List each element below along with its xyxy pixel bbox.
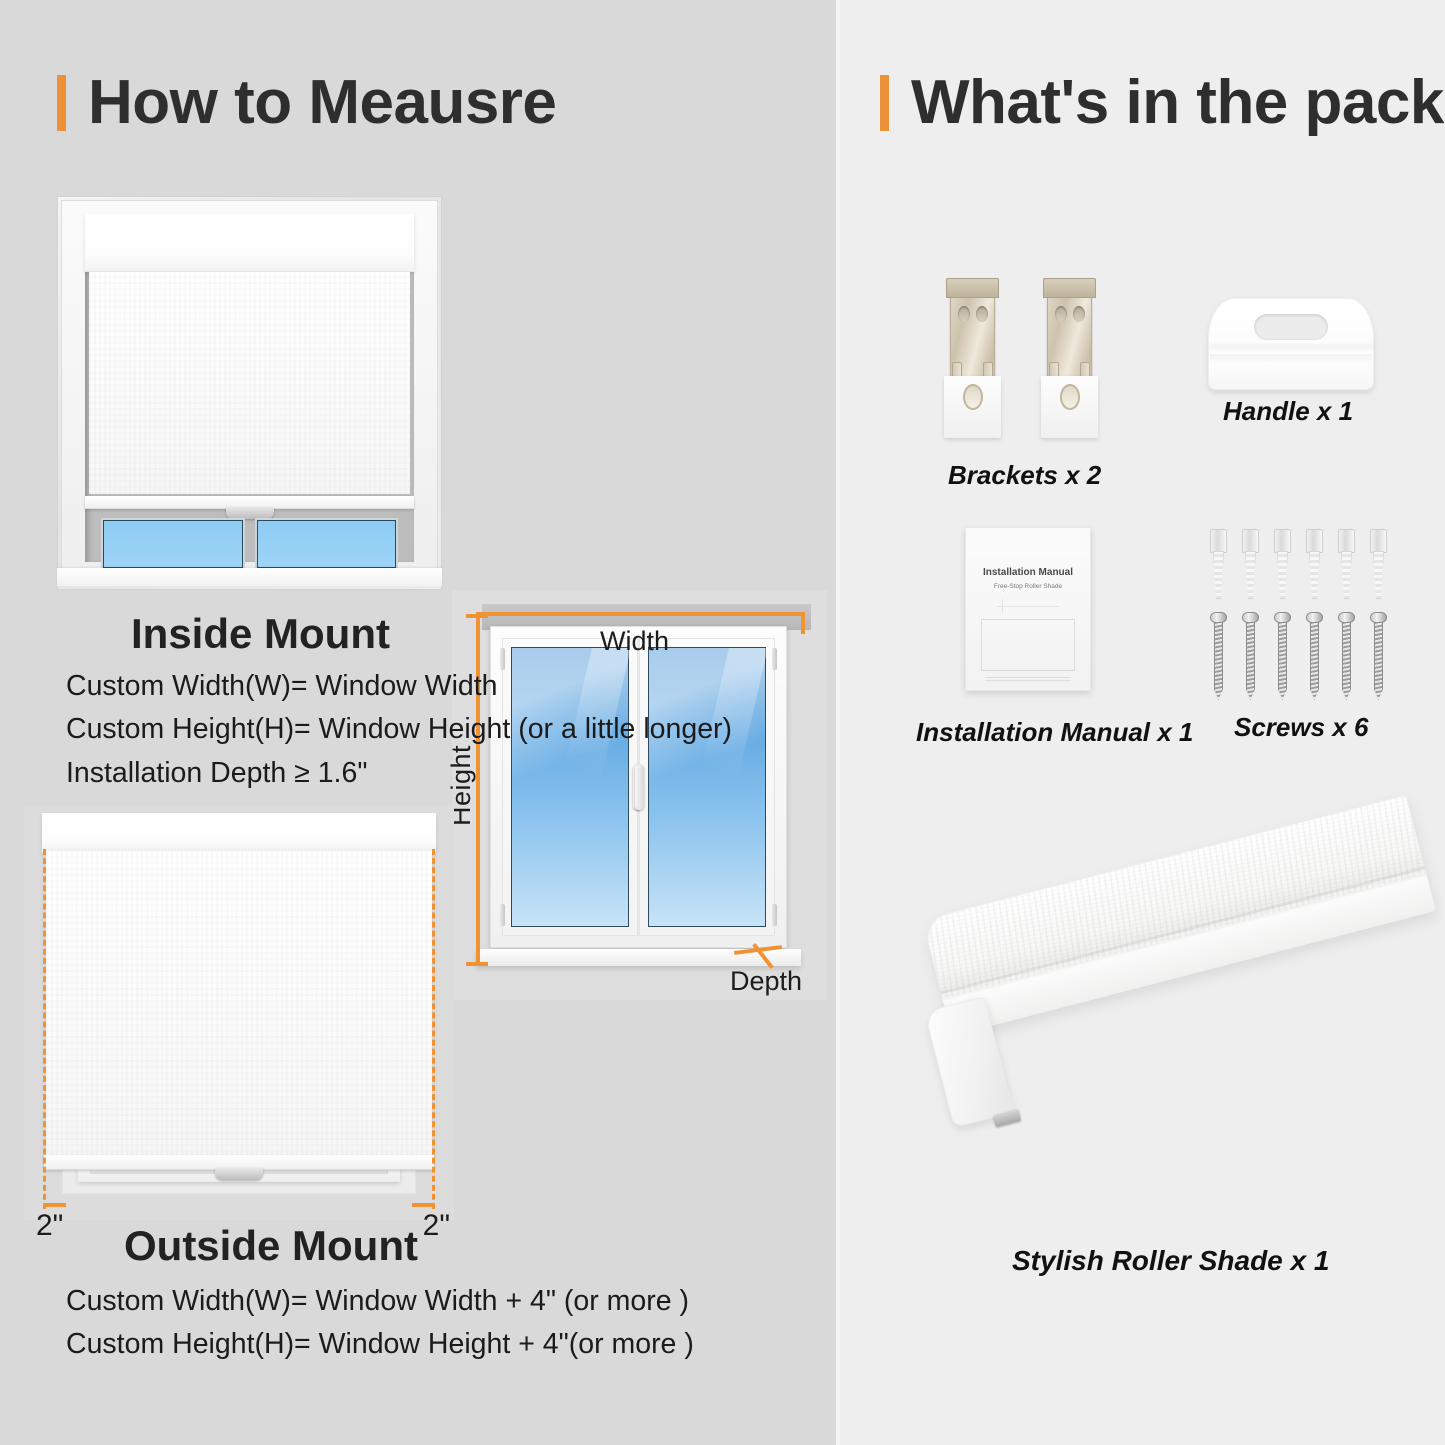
outside-mount-rules: Custom Width(W)= Window Width + 4" (or m…	[66, 1283, 694, 1370]
shade-pull-tab	[215, 1168, 263, 1180]
outside-rule-1: Custom Width(W)= Window Width + 4" (or m…	[66, 1283, 694, 1319]
left-overhang-arrow	[44, 1203, 66, 1207]
shade-fabric	[46, 851, 432, 1158]
window-hinge	[500, 904, 505, 926]
manual-icon: Installation Manual Free-Stop Roller Sha…	[965, 527, 1091, 691]
whats-in-package-heading: What's in the package	[880, 72, 1445, 134]
infographic-page: How to Meausre	[0, 0, 1445, 1445]
screw-icon	[1242, 612, 1259, 700]
screw-icon	[1274, 612, 1291, 700]
accent-bar-icon	[57, 75, 66, 131]
wall-anchor-icon	[1370, 529, 1387, 599]
screws-label: Screws x 6	[1234, 712, 1368, 743]
window-pane	[255, 518, 399, 570]
outside-rule-2: Custom Height(H)= Window Height + 4"(or …	[66, 1326, 694, 1362]
right-overhang-arrow	[412, 1203, 434, 1207]
roller-shade-icon	[926, 890, 1445, 1190]
roller-shade-label: Stylish Roller Shade x 1	[1012, 1245, 1329, 1277]
wall-anchor-icon	[1274, 529, 1291, 599]
heading-label: What's in the package	[911, 72, 1445, 134]
left-overhang-label: 2"	[36, 1209, 63, 1243]
manual-cover-figure	[981, 619, 1075, 671]
width-measure-line	[476, 612, 805, 616]
right-overhang-guide	[432, 849, 435, 1209]
whats-in-package-panel: What's in the package Brackets x 2 Han	[840, 0, 1445, 1445]
wall-anchor-icon	[1306, 529, 1323, 599]
manual-cover-footer	[985, 676, 1071, 681]
screw-icon	[1338, 612, 1355, 700]
screw-icon	[1210, 612, 1227, 700]
roller-shade-tube	[922, 795, 1436, 1036]
accent-bar-icon	[880, 75, 889, 131]
wall-anchor-icon	[1338, 529, 1355, 599]
window-sash-strip	[101, 518, 398, 570]
window-hinge	[772, 904, 777, 926]
inside-rule-1: Custom Width(W)= Window Width	[66, 668, 732, 704]
inside-rule-3: Installation Depth ≥ 1.6"	[66, 755, 732, 791]
bracket-icon	[1041, 278, 1098, 438]
inside-mount-rules: Custom Width(W)= Window Width Custom Hei…	[66, 668, 732, 798]
outside-mount-shade-illustration: 2" 2"	[24, 805, 454, 1220]
heading-label: How to Meausre	[88, 72, 556, 134]
manual-label: Installation Manual x 1	[916, 717, 1193, 748]
height-measure-cap	[466, 962, 488, 966]
inside-mount-title: Inside Mount	[131, 610, 390, 658]
shade-fabric	[89, 272, 410, 494]
window-hinge	[772, 648, 777, 670]
screw-icon	[1306, 612, 1323, 700]
shade-valance	[85, 214, 414, 272]
window-pane	[101, 518, 245, 570]
left-overhang-guide	[43, 849, 46, 1209]
right-overhang-label: 2"	[423, 1209, 450, 1243]
handle-icon	[1208, 298, 1374, 390]
depth-label: Depth	[730, 966, 802, 997]
manual-cover-subtitle: Free-Stop Roller Shade	[965, 583, 1091, 590]
outside-mount-title: Outside Mount	[124, 1222, 418, 1270]
manual-cover-title: Installation Manual	[965, 567, 1091, 578]
brackets-label: Brackets x 2	[948, 460, 1101, 491]
width-measure-cap	[801, 612, 805, 634]
screw-icon	[1370, 612, 1387, 700]
inside-rule-2: Custom Height(H)= Window Height (or a li…	[66, 711, 732, 747]
window-sill	[57, 568, 442, 586]
how-to-measure-heading: How to Meausre	[57, 72, 556, 134]
handle-label: Handle x 1	[1223, 396, 1353, 427]
how-to-measure-panel: How to Meausre	[0, 0, 836, 1445]
bracket-icon	[944, 278, 1001, 438]
window-hinge	[500, 648, 505, 670]
shade-valance	[42, 813, 436, 853]
inside-mount-shade-illustration	[57, 196, 442, 590]
width-label: Width	[600, 626, 669, 657]
manual-cover-sketch	[997, 599, 1059, 613]
height-measure-cap	[466, 614, 488, 618]
wall-anchor-icon	[1210, 529, 1227, 599]
wall-anchor-icon	[1242, 529, 1259, 599]
